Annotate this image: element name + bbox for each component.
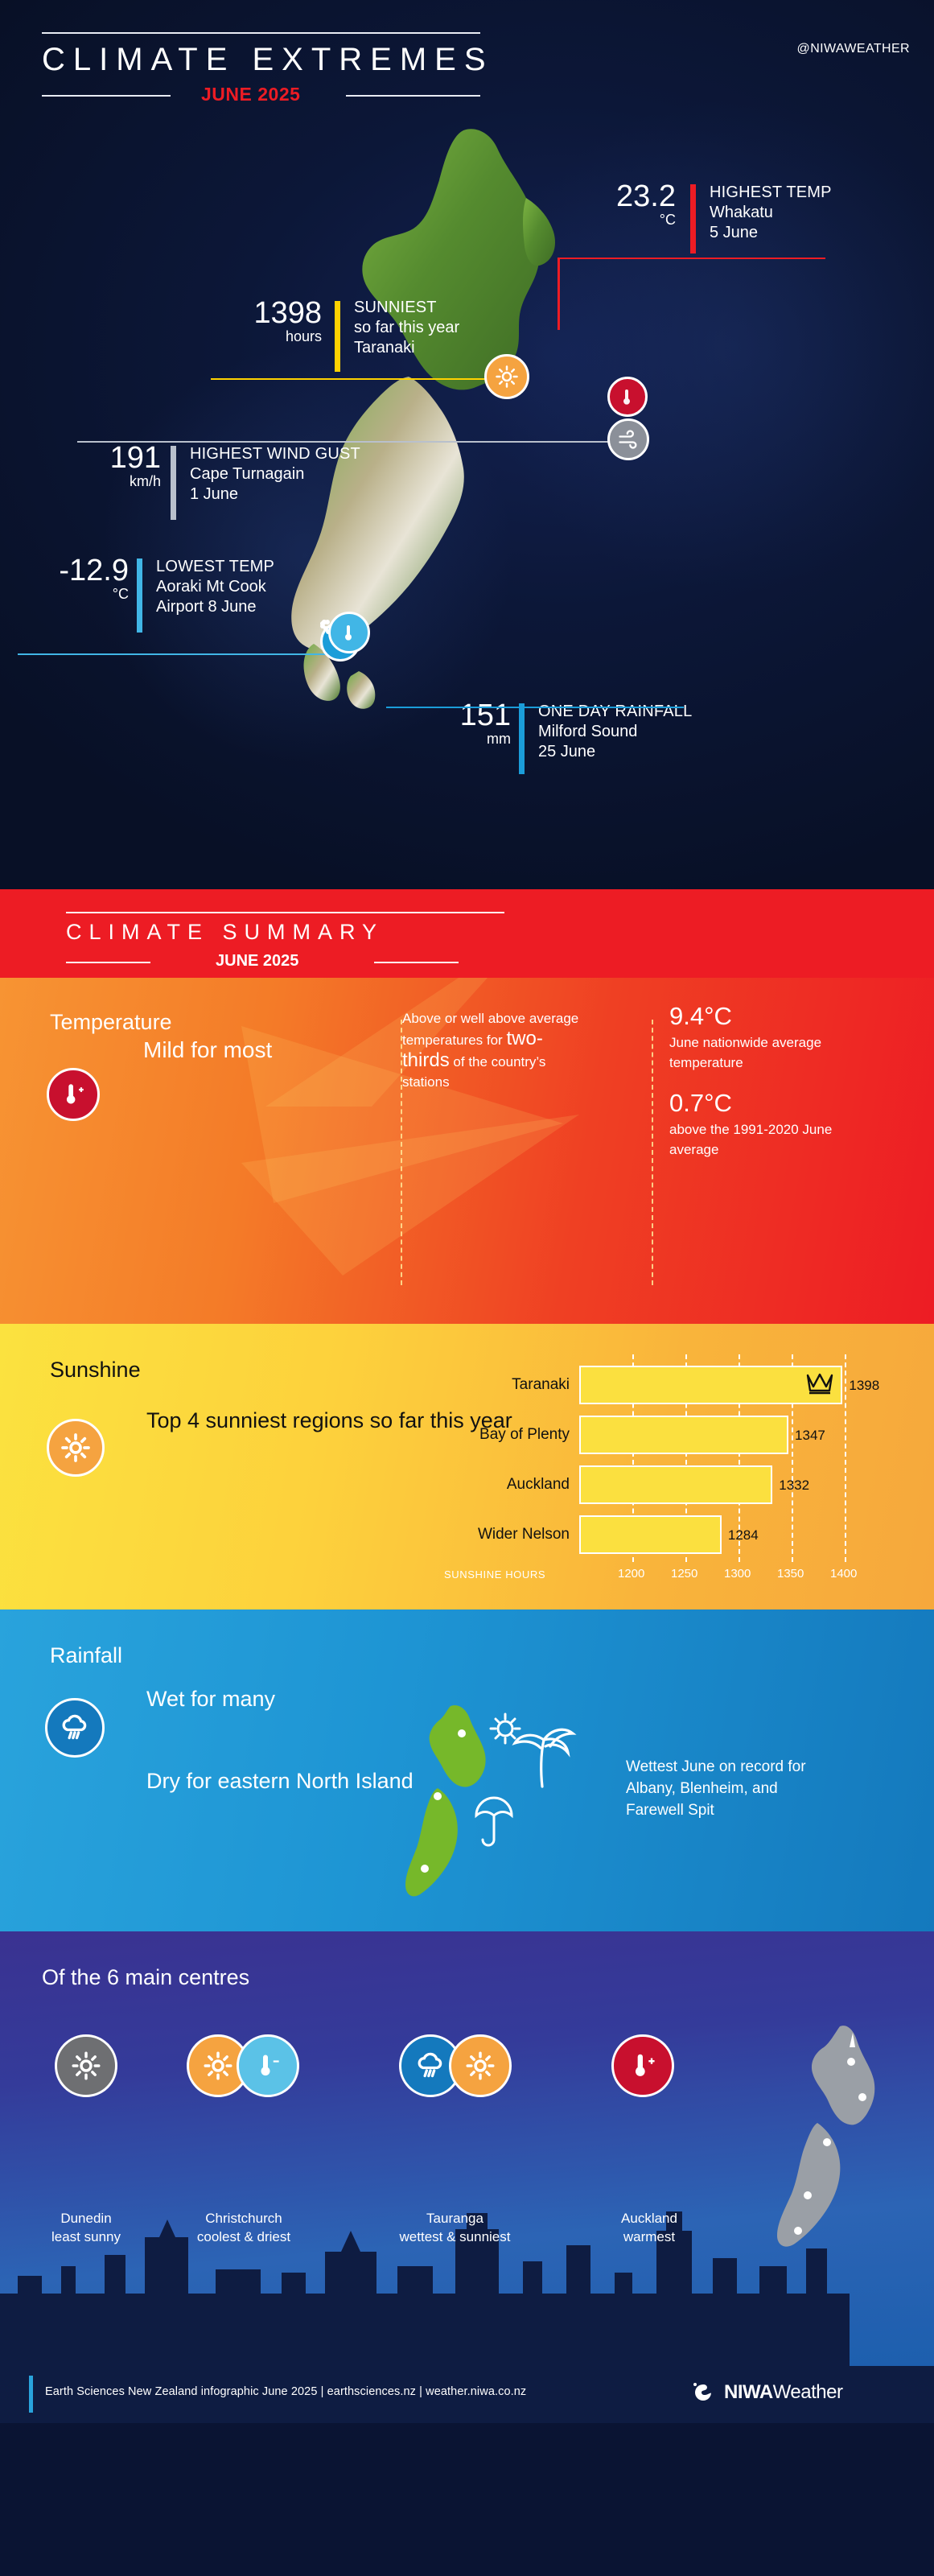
callout-leader-line [211,378,492,380]
chart-category-label: Taranaki [512,1376,570,1394]
temperature-text-pre: Above or well above average temperatures… [402,1011,578,1048]
main-centres-section: Of the 6 main centres [0,1931,934,2366]
summary-rule-top [66,912,504,913]
centre-item-tauranga: Tauranga wettest & sunniest [385,2209,525,2246]
thermometer-plus-icon [47,1068,100,1121]
rainfall-lead-1: Wet for many [146,1684,275,1714]
callout-leader-line [18,653,348,655]
centre-item-auckland: Auckland warmest [581,2209,718,2246]
sun-orange-icon [449,2034,512,2097]
callout-body: HIGHEST WIND GUST Cape Turnagain 1 June [190,444,360,505]
chart-tick-label: 1400 [830,1567,857,1581]
chart-tick-label: 1350 [777,1567,804,1581]
callout-caption: ONE DAY RAINFALL [538,702,692,722]
rainfall-note: Wettest June on record for Albany, Blenh… [626,1756,827,1821]
callout-value: -12.9 [8,555,129,586]
page-subtitle: JUNE 2025 [201,84,300,105]
callout-place: so far this year [354,318,459,338]
chart-bar [579,1465,772,1504]
vertical-divider [652,1020,653,1285]
logo-primary: NIWA [724,2381,773,2403]
section-heading-rainfall: Rainfall [50,1643,122,1668]
callout-value-block: 23.2 °C [555,181,676,228]
temperature-column-3: 9.4°C June nationwide average temperatur… [669,1000,878,1160]
callout-leader-line [558,258,825,259]
climate-summary-header: CLIMATE SUMMARY JUNE 2025 [0,889,934,978]
rain-cloud-icon [45,1698,105,1758]
chart-value-label: 1398 [849,1378,879,1394]
sunshine-bar-chart: 12001250130013501400SUNSHINE HOURSTarana… [451,1348,901,1589]
hero-rule-left [42,95,171,97]
centre-item-christchurch: Christchurch coolest & driest [167,2209,320,2246]
callout-unit: hours [169,328,322,344]
page-title: CLIMATE EXTREMES [42,42,494,78]
centre-desc: least sunny [18,2228,154,2246]
chart-axis-label: SUNSHINE HOURS [444,1568,545,1581]
chart-category-label: Auckland [507,1476,570,1494]
hero-rule-right [346,95,480,97]
summary-rule-right [374,962,459,963]
chart-tick-label: 1250 [671,1567,697,1581]
thermometer-plus-icon [611,2034,674,2097]
centre-item-dunedin: Dunedin least sunny [18,2209,154,2246]
chart-tick-label: 1200 [618,1567,644,1581]
chart-value-label: 1332 [779,1478,809,1494]
footer: Earth Sciences New Zealand infographic J… [0,2366,934,2423]
section-heading-centres: Of the 6 main centres [42,1965,249,1990]
temperature-stat-1-value: 9.4°C [669,1000,878,1032]
hero-rule-top [42,32,480,34]
temperature-stat-2-text: above the 1991-2020 June average [669,1119,878,1160]
chart-tick-label: 1300 [724,1567,751,1581]
footer-accent-bar [29,2376,33,2413]
callout-value: 23.2 [555,181,676,212]
centre-name: Dunedin [18,2209,154,2228]
sun-icon [484,354,529,399]
callout-leader-line [386,707,684,708]
callout-value: 191 [48,443,161,473]
callout-date: 25 June [538,742,692,762]
temperature-lead: Mild for most [143,1036,272,1065]
callout-body: ONE DAY RAINFALL Milford Sound 25 June [538,702,692,762]
callout-leader-line [77,441,608,443]
chart-value-label: 1284 [728,1527,759,1544]
callout-accent-bar [690,184,696,253]
callout-unit: km/h [48,473,161,489]
wind-icon [607,418,649,460]
rainfall-section: Rainfall Wet for many Dry for eastern No… [0,1609,934,1931]
centre-name: Auckland [581,2209,718,2228]
callout-unit: °C [8,586,129,602]
callout-value-block: 191 km/h [48,443,161,489]
chart-category-label: Wider Nelson [478,1526,570,1544]
callout-place: Milford Sound [538,722,692,742]
callout-place: Cape Turnagain [190,464,360,484]
summary-title: CLIMATE SUMMARY [66,920,384,945]
callout-date: Airport 8 June [156,597,274,617]
callout-value-block: -12.9 °C [8,555,129,602]
callout-value-block: 1398 hours [169,298,322,344]
centre-desc: wettest & sunniest [385,2228,525,2246]
callout-value: 151 [398,700,511,731]
chart-category-label: Bay of Plenty [479,1426,570,1444]
centre-desc: warmest [581,2228,718,2246]
thermometer-cold-icon [328,612,370,653]
callout-accent-bar [519,703,525,774]
callout-body: SUNNIEST so far this year Taranaki [354,298,459,358]
callout-leader-drop [558,258,560,330]
callout-caption: HIGHEST WIND GUST [190,444,360,464]
chart-bar [579,1366,842,1404]
chart-bar [579,1515,722,1554]
temperature-stat-2-value: 0.7°C [669,1087,878,1119]
centre-desc: coolest & driest [167,2228,320,2246]
callout-accent-bar [171,446,176,520]
callout-caption: HIGHEST TEMP [710,183,832,203]
rainfall-illustration [402,1698,619,1923]
section-heading-temperature: Temperature [50,1010,172,1035]
sun-icon [47,1419,105,1477]
callout-date: Taranaki [354,338,459,358]
temperature-stat-1-text: June nationwide average temperature [669,1032,878,1073]
logo-secondary: Weather [773,2381,843,2403]
temperature-column-2: Above or well above average temperatures… [402,1008,587,1092]
centre-name: Christchurch [167,2209,320,2228]
callout-unit: °C [555,212,676,228]
niwa-mark-icon [692,2380,719,2405]
callout-unit: mm [398,731,511,747]
chart-bar [579,1416,788,1454]
sun-grey-icon [55,2034,117,2097]
logo-text: NIWAWeather [724,2381,842,2404]
temperature-section: Temperature Mild for most Above or well … [0,978,934,1324]
callout-body: HIGHEST TEMP Whakatu 5 June [710,183,832,243]
callout-date: 1 June [190,484,360,505]
callout-value: 1398 [169,298,322,328]
thermometer-icon [607,377,648,417]
section-heading-sunshine: Sunshine [50,1358,141,1383]
callout-caption: LOWEST TEMP [156,557,274,577]
hero-section: CLIMATE EXTREMES JUNE 2025 @NIWAWEATHER [0,0,934,889]
callout-date: 5 June [710,223,832,243]
footer-credit: Earth Sciences New Zealand infographic J… [45,2385,526,2398]
summary-subtitle: JUNE 2025 [216,952,298,971]
rainfall-lead-2: Dry for eastern North Island [146,1766,414,1796]
callout-caption: SUNNIEST [354,298,459,318]
callout-accent-bar [335,301,340,372]
infographic-page: CLIMATE EXTREMES JUNE 2025 @NIWAWEATHER [0,0,934,2576]
centre-name: Tauranga [385,2209,525,2228]
social-handle: @NIWAWEATHER [797,42,910,56]
crown-icon [805,1370,834,1399]
callout-body: LOWEST TEMP Aoraki Mt Cook Airport 8 Jun… [156,557,274,617]
thermometer-cold-icon [237,2034,299,2097]
chart-gridline [845,1354,846,1562]
callout-place: Whakatu [710,203,832,223]
chart-value-label: 1347 [795,1428,825,1444]
callout-place: Aoraki Mt Cook [156,577,274,597]
sunshine-section: Sunshine Top 4 sunniest regions so far t… [0,1324,934,1609]
callout-accent-bar [137,558,142,633]
niwa-weather-logo: NIWAWeather [692,2380,842,2405]
summary-rule-left [66,962,150,963]
